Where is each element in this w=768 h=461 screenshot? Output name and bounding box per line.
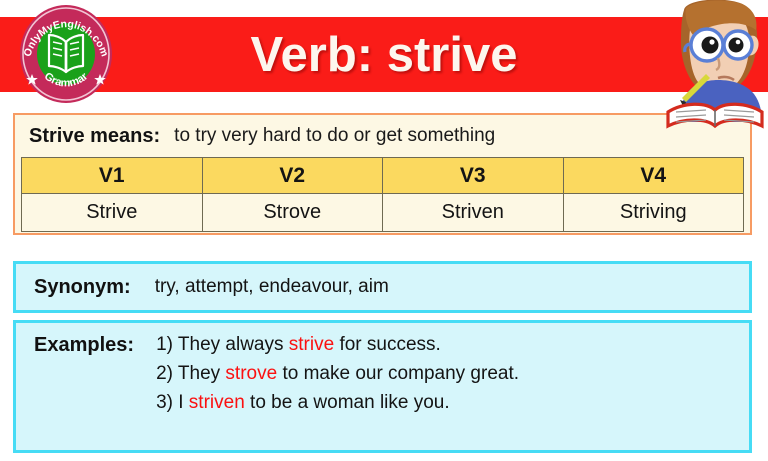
definition-text: to try very hard to do or get something (174, 125, 495, 147)
mascot-glasses (685, 29, 752, 61)
table-cell-v3: Striven (383, 194, 564, 232)
list-item: 2) They strove to make our company great… (156, 363, 519, 385)
table-header-v2: V2 (202, 158, 383, 194)
table-cell-v1: Strive (22, 194, 203, 232)
mascot-svg (662, 0, 768, 131)
example-highlight: striven (189, 392, 245, 413)
list-item: 1) They always strive for success. (156, 334, 519, 356)
table-header-v3: V3 (383, 158, 564, 194)
definition-label: Strive means: (29, 125, 160, 148)
example-highlight: strive (289, 334, 334, 355)
synonym-label: Synonym: (34, 276, 131, 299)
table-cell-v2: Strove (202, 194, 383, 232)
boy-studying-icon (662, 0, 768, 131)
table-header-v4: V4 (563, 158, 744, 194)
definition-row: Strive means: to try very hard to do or … (15, 115, 750, 157)
synonym-text: try, attempt, endeavour, aim (155, 276, 389, 298)
table-row: Strive Strove Striven Striving (22, 194, 744, 232)
verb-forms-table: V1 V2 V3 V4 Strive Strove Striven Strivi… (21, 157, 744, 232)
example-highlight: strove (225, 363, 277, 384)
site-logo: OnlyMyEnglish.com Grammar (18, 2, 114, 105)
examples-label: Examples: (34, 334, 134, 450)
table-cell-v4: Striving (563, 194, 744, 232)
list-item: 3) I striven to be a woman like you. (156, 392, 519, 414)
table-header-v1: V1 (22, 158, 203, 194)
page-title: Verb: strive (0, 17, 768, 92)
examples-panel: Examples: 1) They always strive for succ… (13, 320, 752, 453)
examples-list: 1) They always strive for success. 2) Th… (156, 334, 519, 450)
definition-and-forms-panel: Strive means: to try very hard to do or … (13, 113, 752, 235)
synonym-panel: Synonym: try, attempt, endeavour, aim (13, 261, 752, 313)
logo-svg: OnlyMyEnglish.com Grammar (18, 2, 114, 105)
table-header-row: V1 V2 V3 V4 (22, 158, 744, 194)
